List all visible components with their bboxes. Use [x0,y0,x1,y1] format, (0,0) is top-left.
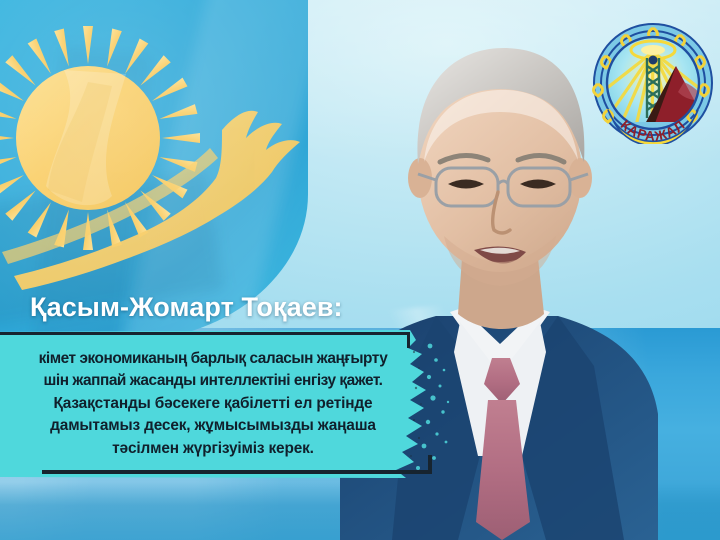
kazakhstan-flag-image [0,0,308,342]
karazhal-emblem: КАРАЖАЛ [592,22,714,144]
quote-card-canvas: КАРАЖАЛ Қасым-Жомарт Тоқаев: [0,0,720,540]
quote-text-block: кімет экономиканың барлық саласын жаңғыр… [0,348,462,460]
quote-line-4: дамытамыз десек, жұмысымызды жаңаша [0,415,448,437]
quote-frame-top-right-corner [407,332,410,348]
quote-line-2: шін жаппай жасанды интеллектіні енгізу қ… [0,370,448,392]
quote-banner: кімет экономиканың барлық саласын жаңғыр… [0,330,462,478]
quote-frame-bottom-rule [42,470,432,474]
quote-frame-top-rule [0,332,410,335]
flag-emblem-sun-and-eagle [0,0,308,342]
quote-line-5: тәсілмен жүргізуіміз керек. [0,438,448,460]
quote-line-3: Қазақстанды бәсекеге қабілетті ел ретінд… [0,393,448,415]
quote-line-1: кімет экономиканың барлық саласын жаңғыр… [0,348,448,370]
quote-frame-bottom-right-corner [428,455,432,474]
karazhal-emblem-graphic: КАРАЖАЛ [592,22,714,144]
speaker-name: Қасым-Жомарт Тоқаев: [30,292,343,323]
